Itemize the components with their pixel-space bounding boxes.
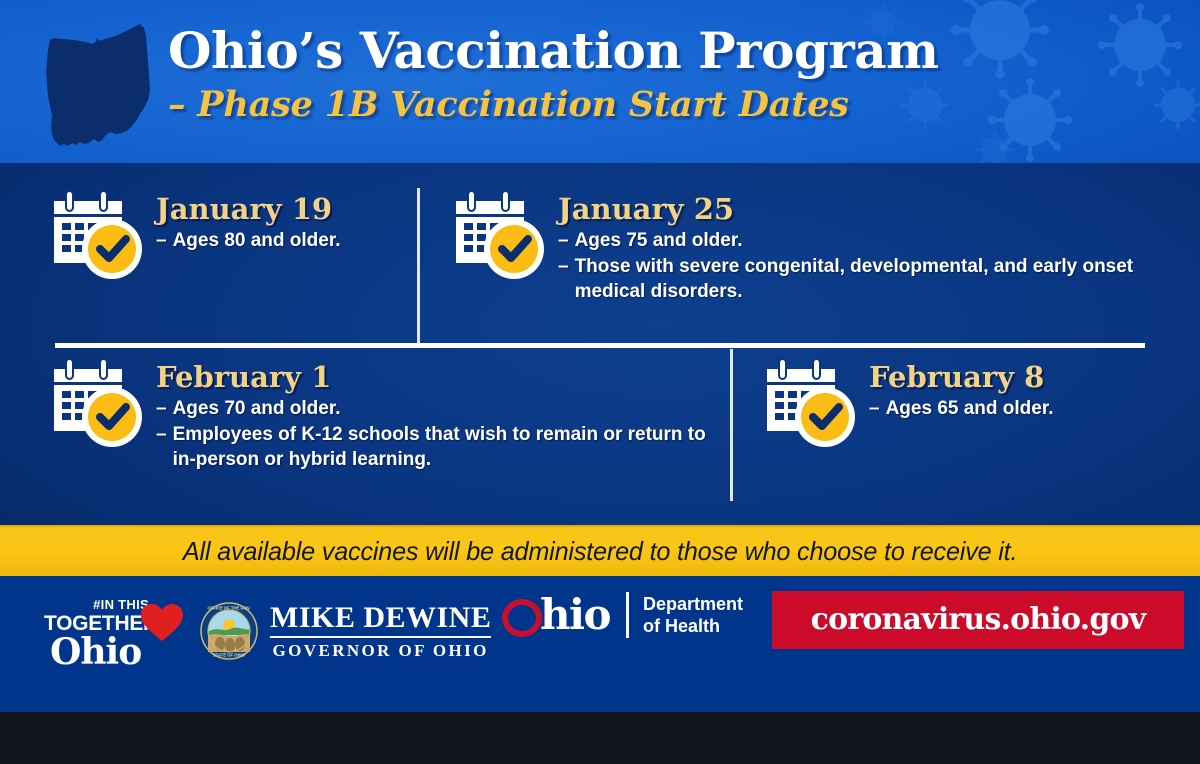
entry-bullet-list: – Ages 75 and older. – Those with severe…	[558, 228, 1183, 304]
list-item: – Those with severe congenital, developm…	[558, 254, 1183, 304]
entry-text: January 25 – Ages 75 and older. – Those …	[558, 185, 1183, 304]
divider	[626, 592, 629, 638]
schedule-entry-february-8: February 8 – Ages 65 and older.	[763, 353, 1053, 451]
page-subtitle: – Phase 1B Vaccination Start Dates	[168, 82, 1098, 128]
bullet-dash: –	[869, 396, 880, 421]
bullet-dash: –	[156, 228, 167, 253]
bottom-letterbox-bar	[0, 722, 1200, 764]
divider	[270, 636, 491, 638]
svg-text:STATE OF OHIO: STATE OF OHIO	[213, 653, 246, 658]
governor-name: MIKE DEWINE	[270, 602, 491, 634]
calendar-check-icon	[763, 355, 859, 451]
entry-date: February 1	[156, 361, 711, 394]
department-line-2: of Health	[643, 615, 743, 637]
governor-name-block: MIKE DEWINE GOVERNOR OF OHIO	[270, 602, 491, 660]
entry-bullet-list: – Ages 80 and older.	[156, 228, 340, 253]
entry-text: February 1 – Ages 70 and older. – Employ…	[156, 353, 711, 472]
governor-subtitle: GOVERNOR OF OHIO	[270, 641, 491, 660]
footer: #IN THIS TOGETHER Ohio OFFICE OF THE GOV…	[0, 576, 1200, 712]
entry-bullet-list: – Ages 65 and older.	[869, 396, 1053, 421]
entry-text: February 8 – Ages 65 and older.	[869, 353, 1053, 421]
schedule-grid: January 19 – Ages 80 and older.	[0, 163, 1200, 525]
divider-vertical-bottom	[730, 349, 733, 501]
entry-date: February 8	[869, 361, 1053, 394]
bullet-text: Ages 65 and older.	[886, 396, 1054, 421]
header-text-block: Ohio’s Vaccination Program – Phase 1B Va…	[168, 22, 1098, 128]
list-item: – Ages 80 and older.	[156, 228, 340, 253]
list-item: – Ages 65 and older.	[869, 396, 1053, 421]
bullet-dash: –	[156, 396, 167, 421]
schedule-entry-january-25: January 25 – Ages 75 and older. – Those …	[452, 185, 1183, 304]
bullet-dash: –	[558, 254, 569, 304]
ohio-state-map-icon	[30, 18, 165, 160]
department-name-block: Department of Health	[643, 593, 743, 637]
vaccination-program-infographic: Ohio’s Vaccination Program – Phase 1B Va…	[0, 0, 1200, 764]
bullet-text: Ages 70 and older.	[173, 396, 711, 421]
ohio-wordmark: hio	[502, 592, 610, 638]
divider-vertical-top	[417, 188, 420, 343]
list-item: – Employees of K-12 schools that wish to…	[156, 422, 711, 472]
notice-banner: All available vaccines will be administe…	[0, 525, 1200, 576]
governor-mike-dewine-logo: OFFICE OF THE GOV. STATE OF OHIO MIKE DE…	[200, 602, 491, 660]
entry-text: January 19 – Ages 80 and older.	[156, 185, 340, 253]
header-banner: Ohio’s Vaccination Program – Phase 1B Va…	[0, 0, 1200, 163]
calendar-check-icon	[50, 355, 146, 451]
bullet-text: Employees of K-12 schools that wish to r…	[173, 422, 711, 472]
schedule-entry-february-1: February 1 – Ages 70 and older. – Employ…	[50, 353, 711, 472]
entry-date: January 25	[558, 193, 1183, 226]
notice-banner-text: All available vaccines will be administe…	[183, 536, 1017, 567]
ohio-wordmark-text: hio	[540, 590, 610, 639]
heart-icon	[140, 603, 184, 643]
bullet-text: Those with severe congenital, developmen…	[575, 254, 1183, 304]
svg-text:OFFICE OF THE GOV.: OFFICE OF THE GOV.	[207, 606, 250, 611]
schedule-entry-january-19: January 19 – Ages 80 and older.	[50, 185, 340, 283]
list-item: – Ages 70 and older.	[156, 396, 711, 421]
list-item: – Ages 75 and older.	[558, 228, 1183, 253]
coronavirus-website-button[interactable]: coronavirus.ohio.gov	[772, 591, 1184, 649]
bullet-text: Ages 80 and older.	[173, 228, 341, 253]
entry-date: January 19	[156, 193, 340, 226]
together-ohio-word: Ohio	[50, 632, 141, 672]
department-line-1: Department	[643, 593, 743, 615]
entry-bullet-list: – Ages 70 and older. – Employees of K-12…	[156, 396, 711, 472]
bullet-dash: –	[156, 422, 167, 472]
calendar-check-icon	[452, 187, 548, 283]
divider-horizontal	[55, 343, 1145, 348]
ohio-governor-seal-icon: OFFICE OF THE GOV. STATE OF OHIO	[200, 602, 258, 660]
bullet-dash: –	[558, 228, 569, 253]
page-title: Ohio’s Vaccination Program	[168, 22, 1098, 80]
website-url-label: coronavirus.ohio.gov	[811, 603, 1146, 637]
calendar-check-icon	[50, 187, 146, 283]
bullet-text: Ages 75 and older.	[575, 228, 1183, 253]
in-this-together-ohio-logo: #IN THIS TOGETHER Ohio	[44, 598, 194, 670]
ohio-department-of-health-logo: hio Department of Health	[502, 592, 743, 638]
ohio-o-ring-icon	[502, 599, 542, 637]
